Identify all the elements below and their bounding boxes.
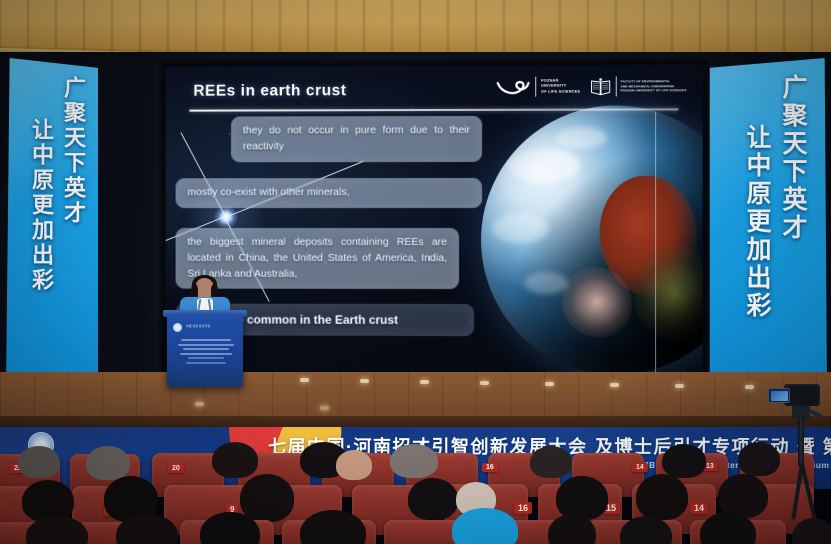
podium-emblem-icon	[173, 323, 182, 332]
swoosh-icon	[496, 78, 530, 95]
poznan-university-logo: POZNAŃ UNIVERSITY OF LIFE SCIENCES	[496, 77, 580, 97]
open-book-icon	[589, 77, 611, 95]
tripod-pan-handle[interactable]	[808, 408, 824, 419]
podium-text-block	[177, 339, 235, 364]
tripod-leg	[800, 464, 816, 519]
slide-bullet-1: they do not occur in pure form due to th…	[231, 116, 482, 162]
audience-head	[18, 446, 60, 478]
audience-head	[240, 474, 294, 522]
audience-head	[530, 446, 572, 478]
side-banner-left: 广聚天下英才 让中原更加出彩	[6, 58, 98, 388]
side-banner-left-line2: 让中原更加出彩	[30, 118, 52, 293]
seat-number: 14	[690, 502, 708, 514]
side-banner-right-line1: 广聚天下英才	[780, 74, 805, 242]
seat-number: 20	[168, 464, 184, 473]
presentation-screen: REEs in earth crust POZNAŃ UNIVERSITY OF…	[162, 61, 707, 379]
faculty-line-3: POZNAN UNIVERSITY OF LIFE SCIENCES	[621, 88, 687, 93]
slide-divider-line	[655, 111, 656, 372]
slide-logo-group: POZNAŃ UNIVERSITY OF LIFE SCIENCES FACU	[496, 76, 687, 97]
camera-monitor	[768, 388, 790, 403]
side-banner-right-line2: 让中原更加出彩	[744, 124, 769, 320]
slide-bullet-2: mostly co-exist with other minerals,	[176, 178, 482, 208]
logo-divider	[535, 77, 536, 97]
audience-head	[408, 478, 458, 520]
seat-number: 14	[632, 463, 648, 472]
side-banner-right: 广聚天下英才 让中原更加出彩	[709, 58, 827, 388]
camera-tripod	[782, 382, 828, 522]
audience-head	[636, 474, 688, 520]
audience-head	[556, 476, 608, 520]
seat-number: 16	[482, 463, 498, 472]
side-banner-left-line1: 广聚天下英才	[62, 76, 84, 226]
podium: 中国·河南 招才引智	[167, 315, 243, 387]
faculty-logo-divider	[616, 76, 617, 96]
audience-seating: 22 21 20 17 16 14 13 20 9 16	[0, 440, 831, 544]
faculty-logo: FACULTY OF ENVIRONMENTAL AND MECHANICAL …	[589, 76, 686, 96]
podium-emblem-text: 中国·河南 招才引智	[186, 324, 210, 328]
slide-content: REEs in earth crust POZNAŃ UNIVERSITY OF…	[166, 65, 703, 375]
conference-hall-scene: 广聚天下英才 让中原更加出彩 广聚天下英才 让中原更加出彩	[0, 0, 831, 544]
audience-head	[336, 450, 372, 480]
faculty-logo-text: FACULTY OF ENVIRONMENTAL AND MECHANICAL …	[621, 79, 687, 93]
audience-head	[86, 446, 130, 480]
seat-number: 16	[514, 502, 532, 514]
audience-head	[662, 444, 706, 478]
tripod-column	[798, 418, 804, 466]
slide-title: REEs in earth crust	[193, 82, 346, 100]
audience-head	[390, 444, 438, 478]
audience-head-with-cap	[452, 508, 518, 544]
poznan-logo-text: POZNAŃ UNIVERSITY OF LIFE SCIENCES	[541, 78, 580, 94]
audience-head	[212, 442, 258, 478]
poznan-line-3: OF LIFE SCIENCES	[541, 89, 580, 95]
audience-head	[738, 442, 780, 476]
camera-monitor-screen	[771, 391, 788, 401]
